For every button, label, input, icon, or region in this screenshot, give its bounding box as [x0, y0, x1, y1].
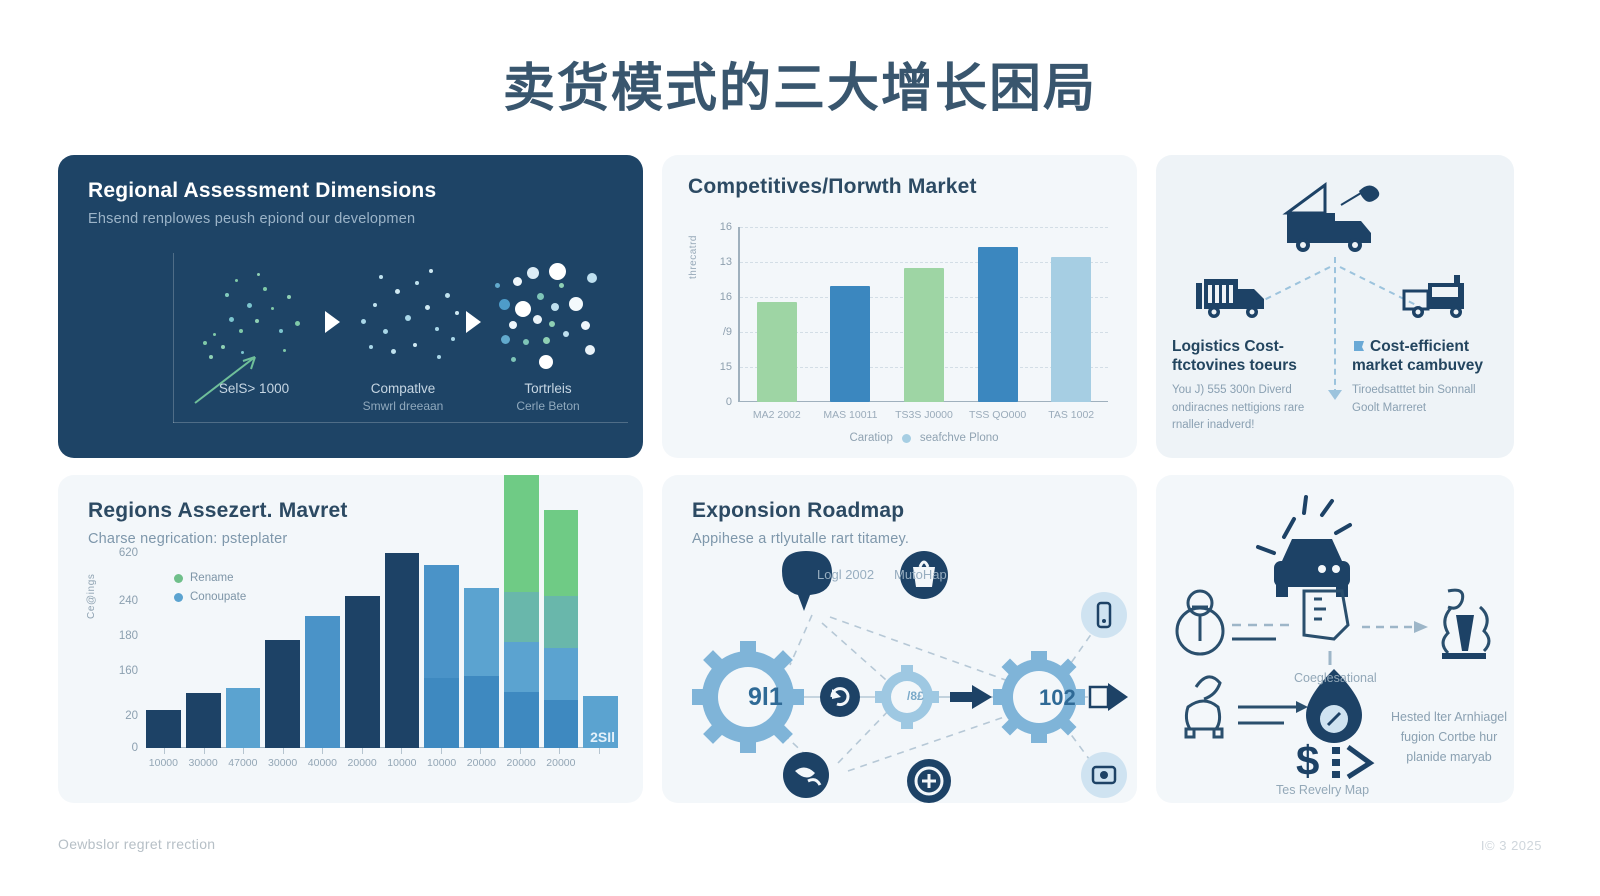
svg-text:$: $	[1296, 737, 1319, 784]
table-row[interactable]	[186, 693, 221, 748]
scatter-label-2-main: Compatlve	[371, 381, 436, 396]
table-row[interactable]	[385, 553, 420, 748]
x-tick: 10000	[146, 757, 181, 769]
gauge-icon	[1177, 591, 1223, 654]
x-tick: 10000	[424, 757, 459, 769]
table-row[interactable]	[146, 710, 181, 748]
scatter-triptych: SelS> 1000 Compatlve Smwrl dreeaan Tortr…	[173, 253, 628, 423]
competitives-plot-area	[740, 227, 1108, 402]
x-tick: MA2 2002	[740, 409, 814, 421]
arrow-head-icon	[1414, 621, 1428, 633]
table-row[interactable]	[464, 588, 499, 748]
scatter-cluster-2	[351, 259, 471, 371]
regions-stacked-chart: Ce@ings 620 240 180 160 20 0 Rename	[84, 553, 624, 773]
y-tick: 15	[720, 361, 732, 373]
x-tick: 20000	[345, 757, 380, 769]
utility-truck-icon	[1398, 273, 1480, 321]
add-node-icon	[907, 759, 951, 803]
regions-x-tickmarks	[146, 748, 618, 754]
competitives-y-ticks: 16 13 16 /9 15 0	[702, 227, 736, 402]
chevron-right-icon-2	[466, 311, 481, 333]
x-tick: 20000	[544, 757, 579, 769]
iconmap-body-text: Hested lter Arnhiagel fugion Cortbe hur …	[1384, 707, 1514, 767]
y-tick: 20	[125, 710, 138, 722]
y-tick: 620	[119, 547, 138, 559]
scatter-cluster-1	[195, 259, 315, 371]
scatter-label-1: SelS> 1000	[179, 381, 329, 399]
globe-node-icon	[783, 752, 829, 798]
iconmap-center-label: Coeglesational	[1294, 671, 1377, 685]
card-competitives-title: Competitives/Πorwth Market	[688, 175, 1113, 199]
y-tick: 240	[119, 595, 138, 607]
x-tick: 10000	[385, 757, 420, 769]
roadmap-label-lost: Logl 2002	[817, 567, 874, 582]
card-logistics: Logistics Cost-ftctovines toeurs You J) …	[1156, 155, 1514, 458]
money-chart-icon: $	[1296, 737, 1370, 784]
x-tick: 40000	[305, 757, 340, 769]
x-tick: TS3S J0000	[887, 409, 961, 421]
person-icon	[1186, 677, 1222, 737]
y-tick: 180	[119, 630, 138, 642]
badge-icon	[1352, 339, 1366, 353]
refresh-node-icon	[820, 677, 860, 717]
logistics-left-column: Logistics Cost-ftctovines toeurs You J) …	[1172, 337, 1322, 435]
table-row[interactable]: 2SIl	[583, 696, 618, 748]
card-regions-title: Regions Assezert. Mavret	[88, 499, 619, 523]
regions-plot-area: 2SIl	[146, 553, 618, 748]
regions-y-axis-label: Ce@ings	[86, 574, 97, 619]
bar[interactable]	[830, 286, 870, 402]
arrow-head-icon-2	[1296, 701, 1308, 713]
footer-right-text: I© 3 2025	[1481, 838, 1542, 853]
scatter-y-axis	[173, 253, 174, 423]
scatter-x-axis	[173, 422, 628, 423]
x-tick: TAS 1002	[1034, 409, 1108, 421]
y-tick: /9	[723, 326, 732, 338]
card-regional-subtitle: Ehsend renplowes peush epiond our develo…	[88, 211, 619, 227]
roadmap-diagram	[662, 475, 1137, 803]
y-tick: 16	[720, 221, 732, 233]
device-node-icon	[1081, 592, 1127, 638]
arrow-down-icon	[1327, 387, 1343, 401]
y-tick: 0	[726, 396, 732, 408]
regions-bars: 2SIl	[146, 553, 618, 748]
delivery-truck-icon	[1275, 177, 1395, 263]
card-iconmap: $ Coeglesational Hested lter Arnhiagel f…	[1156, 475, 1514, 803]
logistics-right-heading-text: Cost-efficient market cambuvey	[1352, 338, 1483, 374]
table-row[interactable]	[265, 640, 300, 748]
competitives-bars	[740, 227, 1108, 402]
y-tick: 0	[132, 742, 138, 754]
card-regions-header: Regions Assezert. Mavret Charse negricat…	[88, 499, 619, 547]
logistics-right-column: Cost-efficient market cambuvey Tiroedsat…	[1352, 337, 1502, 417]
y-tick: 13	[720, 256, 732, 268]
x-tick: 47000	[226, 757, 261, 769]
table-row[interactable]	[504, 475, 539, 748]
competitives-y-axis-label: threcatrd	[688, 235, 699, 279]
legend-label-2: seafchve Plono	[920, 432, 999, 444]
camera-node-icon	[1081, 752, 1127, 798]
footer-left-text: Oewbslor regret rrection	[58, 836, 215, 852]
x-tick: 30000	[265, 757, 300, 769]
regions-y-ticks: 620 240 180 160 20 0	[98, 553, 142, 748]
card-regional-header: Regional Assessment Dimensions Ehsend re…	[88, 179, 619, 227]
logistics-right-heading: Cost-efficient market cambuvey	[1352, 337, 1502, 376]
x-tick: 20000	[504, 757, 539, 769]
x-tick: MAS 10011	[814, 409, 888, 421]
table-row[interactable]	[424, 565, 459, 748]
slide-root: 卖货模式的三大增长困局 Regional Assessment Dimensio…	[0, 0, 1600, 896]
bar[interactable]	[1051, 257, 1091, 402]
document-icon	[1304, 591, 1348, 639]
connector-down	[1334, 257, 1336, 395]
y-tick: 16	[720, 291, 732, 303]
roadmap-label-mutohap: MutoHap	[894, 567, 947, 582]
iconmap-money-label: Tes Revelry Map	[1276, 783, 1369, 797]
bar[interactable]	[904, 268, 944, 402]
table-row[interactable]	[544, 510, 579, 748]
x-tick: TSS QO000	[961, 409, 1035, 421]
logistics-left-heading: Logistics Cost-ftctovines toeurs	[1172, 337, 1322, 376]
card-regions: Regions Assezert. Mavret Charse negricat…	[58, 475, 643, 803]
card-regions-subtitle: Charse negrication: psteplater	[88, 531, 619, 547]
x-tick	[583, 757, 618, 769]
bar-value-label: 2SIl	[590, 729, 615, 745]
logistics-left-body: You J) 555 300n Diverd ondiracnes nettig…	[1172, 382, 1322, 435]
chevron-right-icon-1	[325, 311, 340, 333]
cargo-truck-icon	[1192, 273, 1274, 321]
y-tick: 160	[119, 665, 138, 677]
x-tick: 20000	[464, 757, 499, 769]
scatter-label-3-sub: Cerle Beton	[473, 399, 623, 413]
scatter-label-2-sub: Smwrl dreeaan	[328, 399, 478, 413]
card-grid: Regional Assessment Dimensions Ehsend re…	[58, 155, 1513, 803]
logistics-right-body: Tiroedsatttet bin Sonnall Goolt Marreret	[1352, 382, 1502, 418]
card-competitives: Competitives/Πorwth Market threcatrd 16 …	[662, 155, 1137, 458]
scatter-label-2: Compatlve Smwrl dreeaan	[328, 381, 478, 413]
x-tick: 30000	[186, 757, 221, 769]
card-regional-title: Regional Assessment Dimensions	[88, 179, 619, 203]
competitives-bar-chart: threcatrd 16 13 16 /9 15 0	[690, 227, 1110, 427]
regions-x-labels: 10000 30000 47000 30000 40000 20000 1000…	[146, 757, 618, 769]
legend-label-1: Caratiop	[849, 432, 892, 444]
competitives-legend: Caratiop seafchve Plono	[740, 432, 1108, 444]
scatter-label-3-main: Tortrleis	[524, 381, 571, 396]
bar[interactable]	[757, 302, 797, 402]
legend-dot-icon	[902, 434, 911, 443]
competitives-x-labels: MA2 2002 MAS 10011 TS3S J0000 TSS QO000 …	[740, 409, 1108, 421]
bar[interactable]	[978, 247, 1018, 402]
car-sparkle-icon	[1258, 497, 1350, 597]
page-title: 卖货模式的三大增长困局	[0, 46, 1600, 121]
card-competitives-header: Competitives/Πorwth Market	[688, 175, 1113, 199]
table-row[interactable]	[226, 688, 261, 748]
outline-arrow-icon	[1090, 683, 1128, 711]
scatter-label-1-main: SelS> 1000	[219, 381, 289, 396]
lamp-icon	[1442, 590, 1489, 659]
arrow-right-icon	[950, 685, 992, 709]
card-regional-assessment: Regional Assessment Dimensions Ehsend re…	[58, 155, 643, 458]
table-row[interactable]	[345, 596, 380, 748]
card-roadmap: Exponsion Roadmap Appihese a rtlyutalle …	[662, 475, 1137, 803]
scatter-label-3: Tortrleis Cerle Beton	[473, 381, 623, 413]
table-row[interactable]	[305, 616, 340, 748]
scatter-cluster-3	[493, 259, 613, 371]
